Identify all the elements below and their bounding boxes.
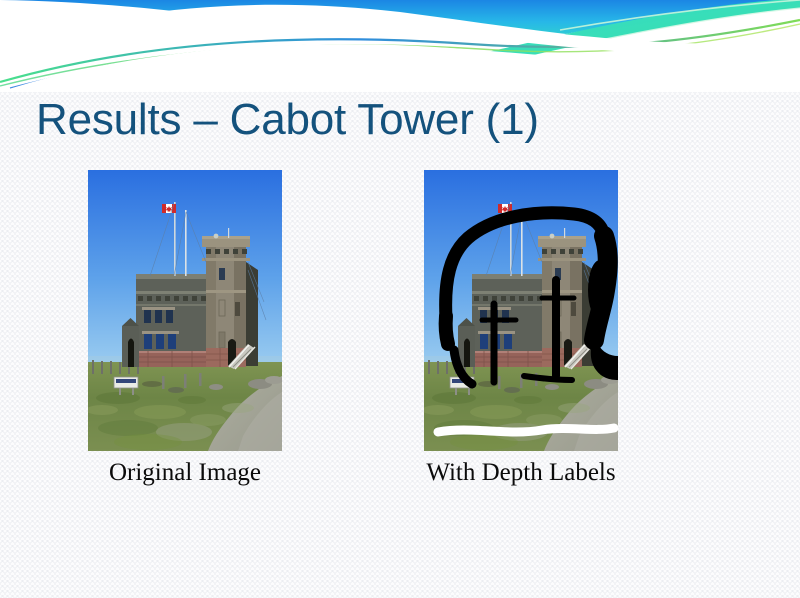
far-depth-stroke-left — [446, 316, 448, 344]
page-title: Results – Cabot Tower (1) — [36, 95, 539, 144]
figure-original-image: Original Image — [88, 170, 296, 487]
wave-graphic — [0, 0, 800, 92]
figure-caption-labeled: With Depth Labels — [400, 459, 642, 487]
near-depth-stroke-ground — [438, 428, 614, 432]
cabot-tower-illustration-annotated — [424, 170, 618, 451]
presentation-slide: Results – Cabot Tower (1) — [0, 0, 800, 598]
cabot-tower-photo-labeled — [424, 170, 618, 451]
cabot-tower-photo-original — [88, 170, 282, 451]
cabot-tower-illustration — [88, 170, 282, 451]
figure-caption-original: Original Image — [74, 459, 296, 487]
decorative-wave-banner — [0, 0, 800, 92]
figure-labeled-image: With Depth Labels — [424, 170, 642, 487]
